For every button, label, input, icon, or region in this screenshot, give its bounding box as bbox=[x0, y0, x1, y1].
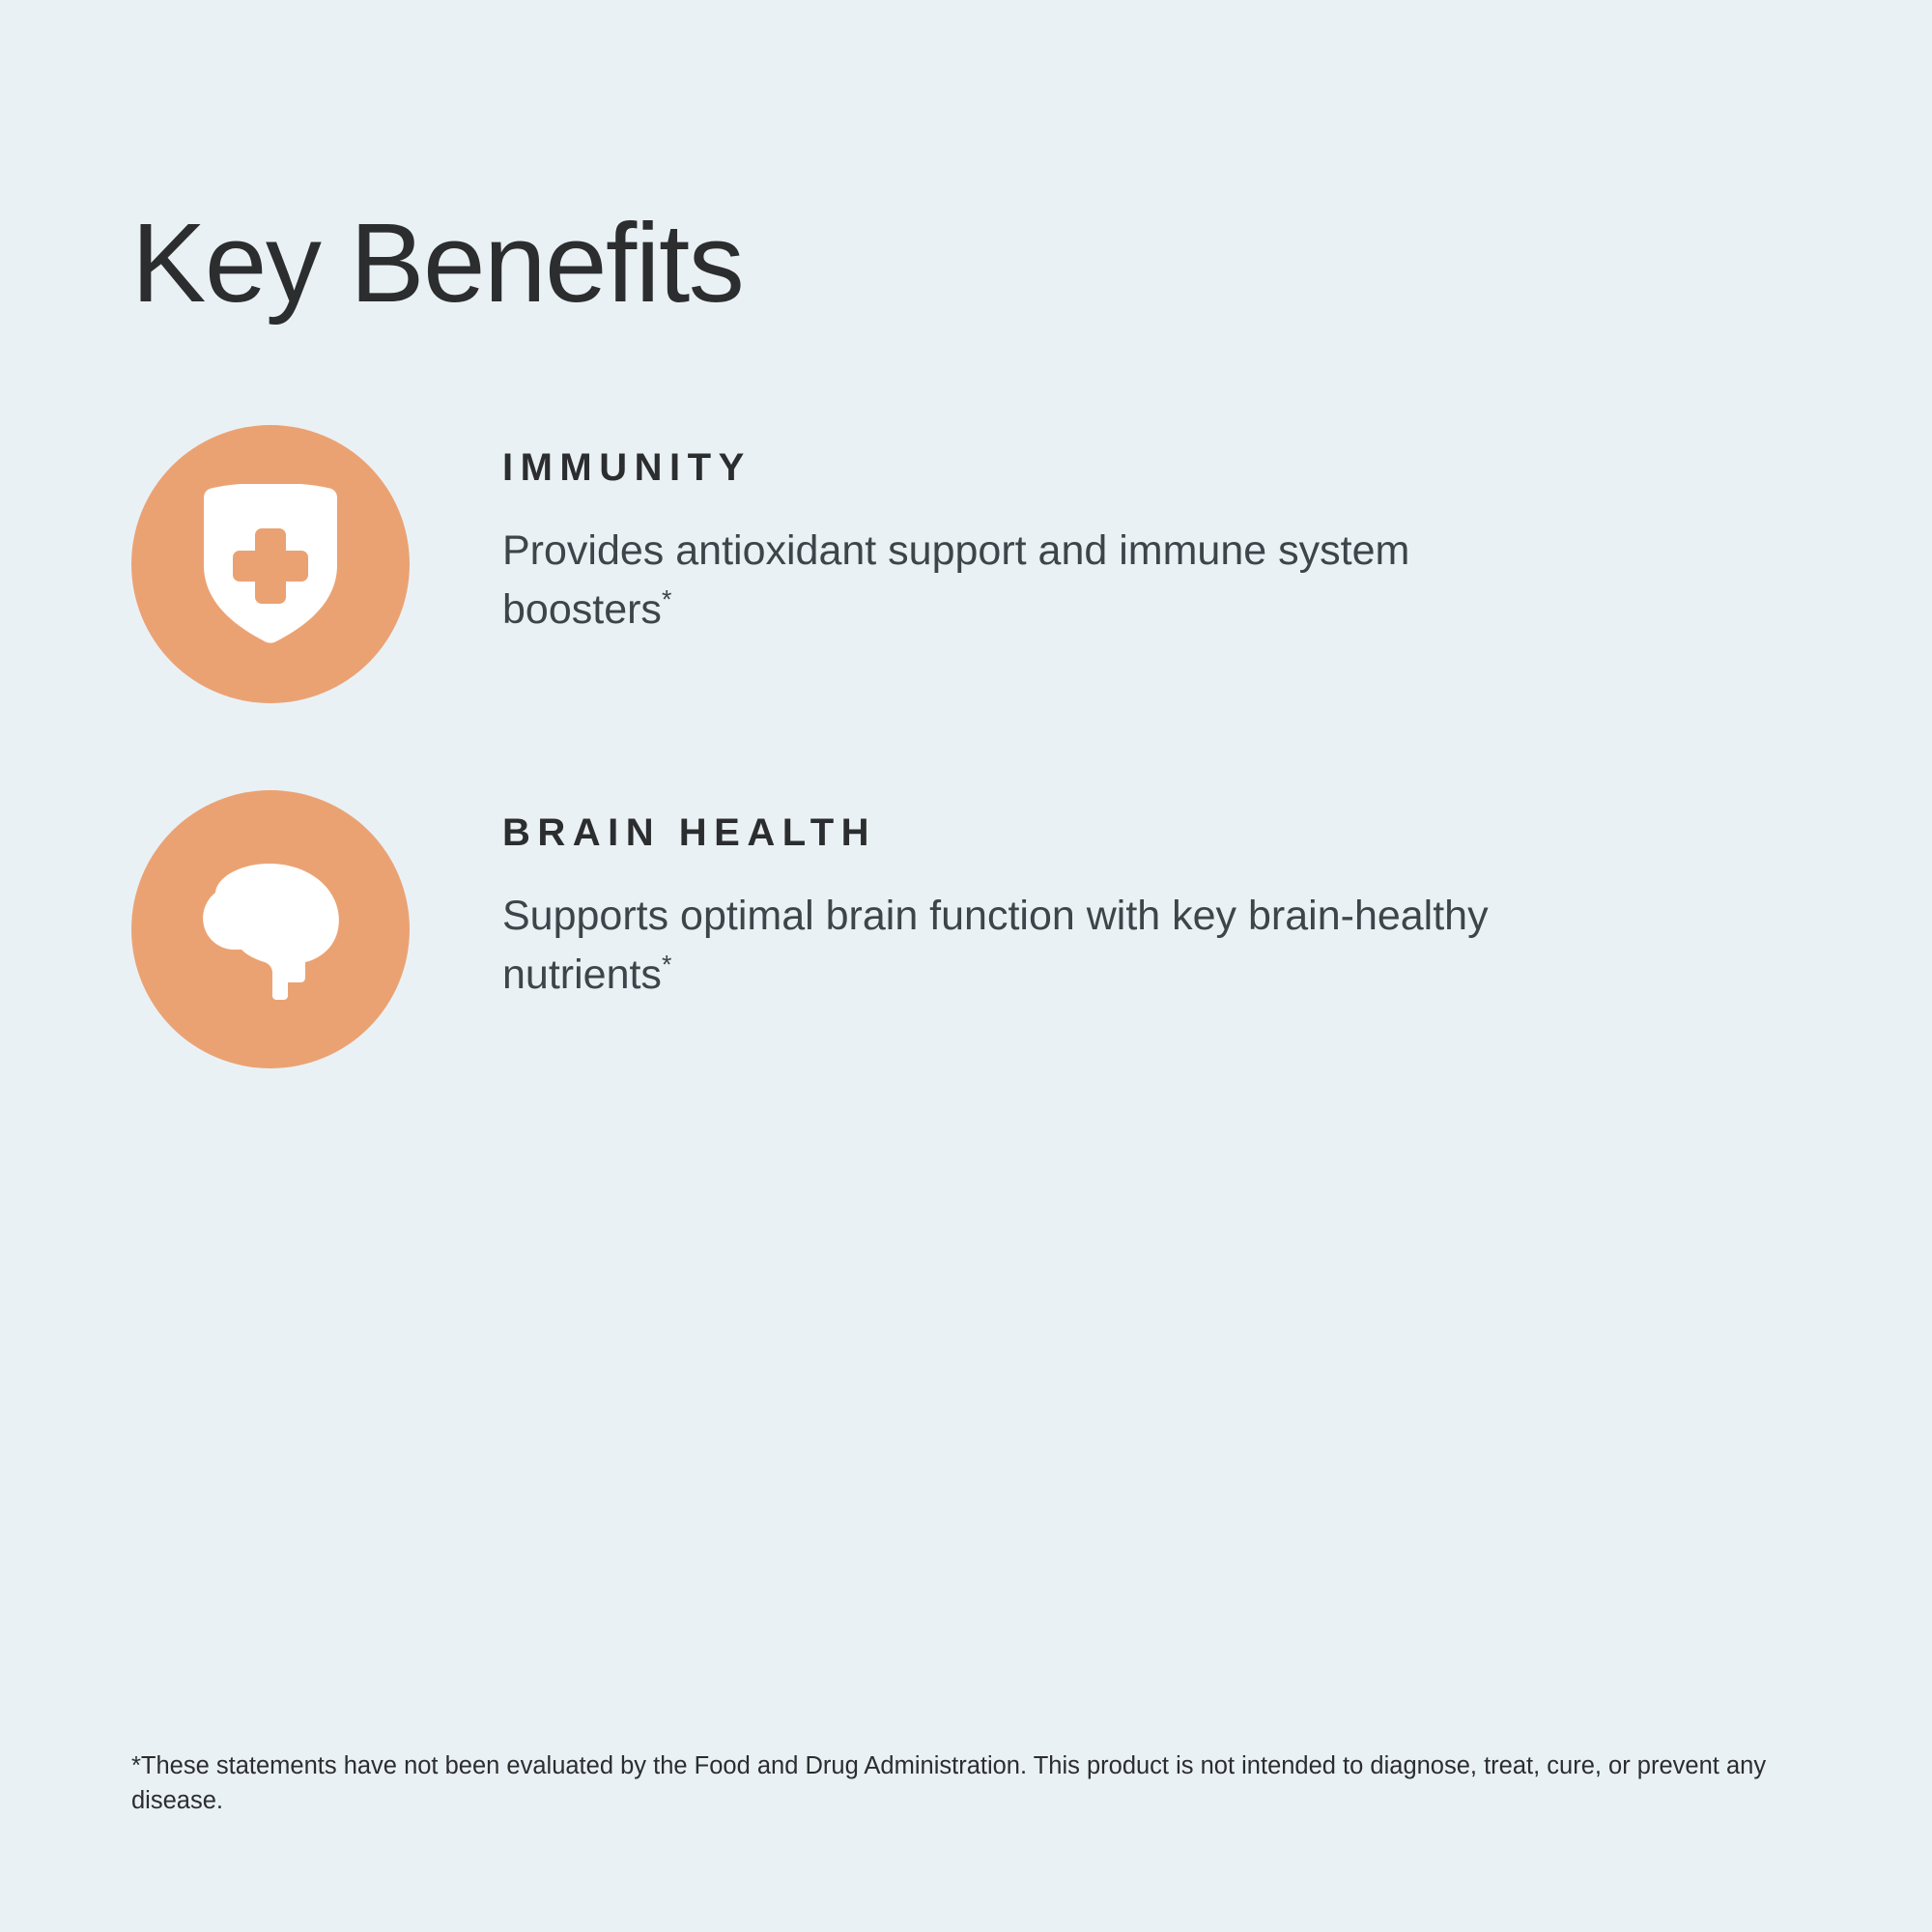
icon-circle-immunity bbox=[131, 425, 410, 703]
benefit-footnote-marker: * bbox=[662, 585, 671, 614]
page-title: Key Benefits bbox=[131, 201, 743, 327]
benefit-title: IMMUNITY bbox=[502, 446, 1774, 489]
fda-disclaimer-footnote: *These statements have not been evaluate… bbox=[131, 1748, 1793, 1818]
benefit-text-container: IMMUNITY Provides antioxidant support an… bbox=[410, 425, 1774, 639]
brain-icon bbox=[187, 846, 354, 1012]
benefit-item-immunity: IMMUNITY Provides antioxidant support an… bbox=[131, 425, 1774, 703]
benefit-item-brain-health: BRAIN HEALTH Supports optimal brain func… bbox=[131, 790, 1774, 1068]
benefit-footnote-marker: * bbox=[662, 951, 671, 980]
benefit-icon-container bbox=[131, 425, 410, 703]
benefit-text-container: BRAIN HEALTH Supports optimal brain func… bbox=[410, 790, 1774, 1005]
benefit-title: BRAIN HEALTH bbox=[502, 811, 1774, 854]
benefit-description-text: Provides antioxidant support and immune … bbox=[502, 527, 1409, 633]
benefit-icon-container bbox=[131, 790, 410, 1068]
benefit-description: Provides antioxidant support and immune … bbox=[502, 522, 1526, 639]
key-benefits-page: Key Benefits IMMUNITY Provides antioxida… bbox=[0, 0, 1932, 1932]
benefit-description-text: Supports optimal brain function with key… bbox=[502, 893, 1489, 998]
shield-plus-icon bbox=[198, 484, 343, 644]
icon-circle-brain-health bbox=[131, 790, 410, 1068]
benefits-list: IMMUNITY Provides antioxidant support an… bbox=[131, 425, 1774, 1155]
benefit-description: Supports optimal brain function with key… bbox=[502, 887, 1526, 1005]
